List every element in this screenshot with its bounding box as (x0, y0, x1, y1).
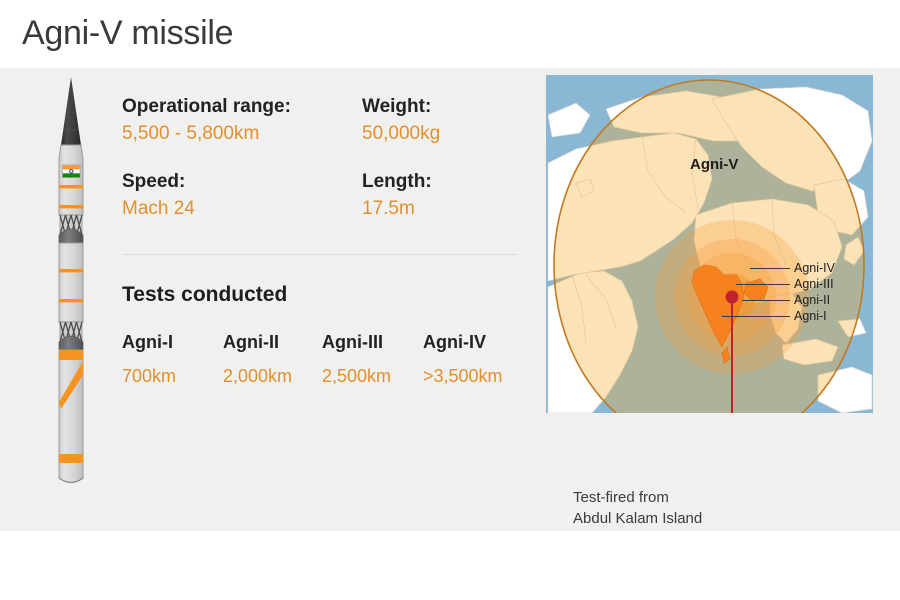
map-label-agni-v: Agni-V (690, 156, 738, 173)
test-column-agni-ii: Agni-II 2,000km (223, 331, 292, 387)
test-range: >3,500km (423, 365, 503, 387)
tests-heading: Tests conducted (122, 283, 287, 307)
spec-value-weight: 50,000kg (362, 120, 532, 148)
test-range: 2,500km (322, 365, 391, 387)
spec-value-operational-range: 5,500 - 5,800km (122, 120, 362, 148)
spec-value-length: 17.5m (362, 195, 532, 223)
spec-label-weight: Weight: (362, 93, 532, 120)
infographic-root: Agni-V missile (0, 0, 900, 600)
map-caption: Test-fired from Abdul Kalam Island (573, 487, 702, 529)
spacer (362, 148, 532, 168)
spec-label-operational-range: Operational range: (122, 93, 362, 120)
specs-column-left: Operational range: 5,500 - 5,800km Speed… (122, 93, 362, 223)
legend-label-agni-iii: Agni-III (794, 277, 834, 291)
test-column-agni-i: Agni-I 700km (122, 331, 176, 387)
legend-leader-line-agni-iii (736, 284, 790, 285)
tests-table: Agni-I 700km Agni-II 2,000km Agni-III 2,… (122, 331, 522, 391)
test-column-agni-iv: Agni-IV >3,500km (423, 331, 503, 387)
spec-label-speed: Speed: (122, 168, 362, 195)
spec-value-speed: Mach 24 (122, 195, 362, 223)
test-range: 700km (122, 365, 176, 387)
section-divider (122, 254, 518, 255)
legend-label-agni-i: Agni-I (794, 309, 827, 323)
test-name: Agni-III (322, 331, 391, 353)
test-column-agni-iii: Agni-III 2,500km (322, 331, 391, 387)
legend-leader-line-agni-ii (742, 300, 790, 301)
spec-label-length: Length: (362, 168, 532, 195)
page-title: Agni-V missile (22, 14, 233, 53)
missile-illustration (40, 73, 102, 503)
legend-leader-line-agni-iv (750, 268, 790, 269)
range-map (546, 75, 873, 413)
legend-label-agni-iv: Agni-IV (794, 261, 835, 275)
legend-label-agni-ii: Agni-II (794, 293, 830, 307)
test-name: Agni-II (223, 331, 292, 353)
test-range: 2,000km (223, 365, 292, 387)
test-name: Agni-I (122, 331, 176, 353)
test-name: Agni-IV (423, 331, 503, 353)
legend-leader-line-agni-i (722, 316, 790, 317)
spacer (122, 148, 362, 168)
specs-column-right: Weight: 50,000kg Length: 17.5m (362, 93, 532, 223)
